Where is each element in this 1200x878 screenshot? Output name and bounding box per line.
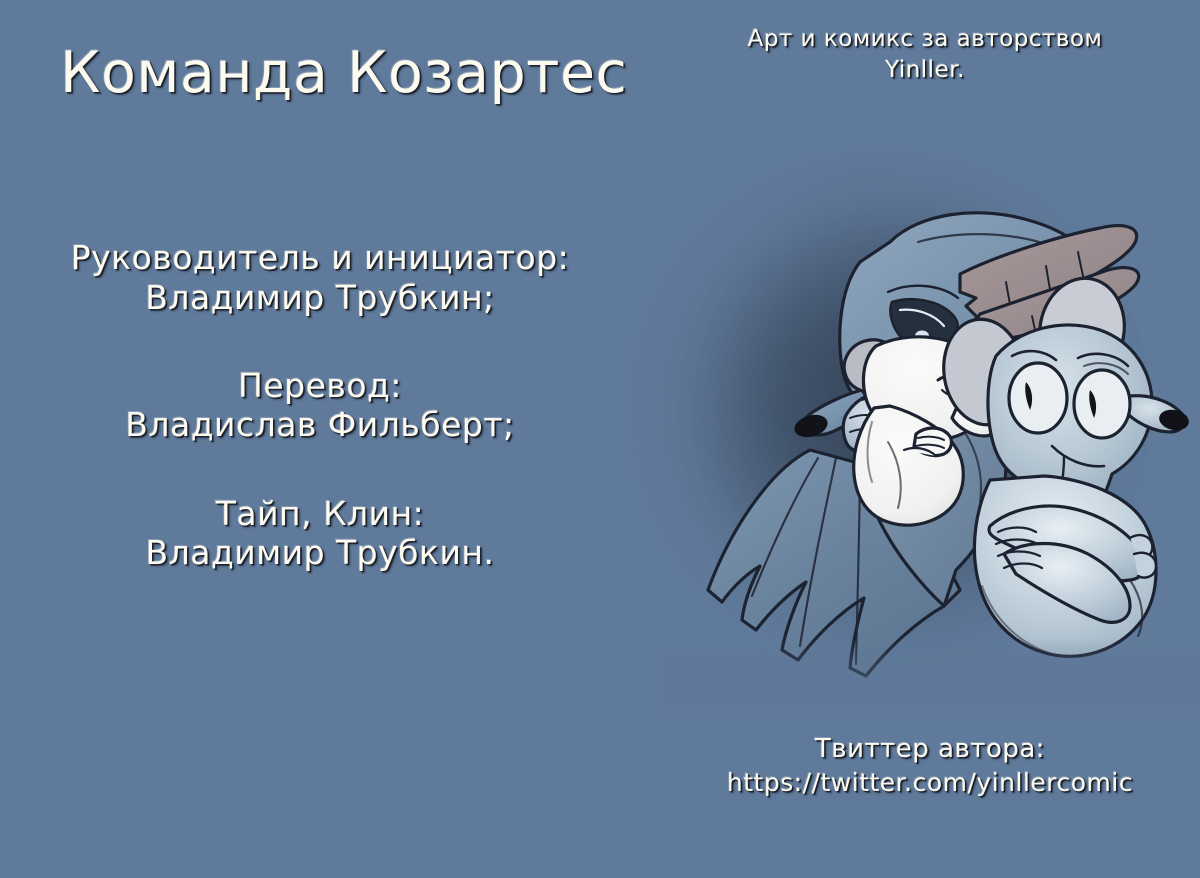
credit-role: Руководитель и инициатор: [20, 238, 620, 278]
credit-role: Тайп, Клин: [20, 494, 620, 534]
credit-block: Руководитель и инициатор: Владимир Трубк… [20, 238, 620, 318]
twitter-url[interactable]: https://twitter.com/yinllercomic [700, 766, 1160, 799]
credit-block: Перевод: Владислав Фильберт; [20, 366, 620, 446]
twitter-credit: Твиттер автора: https://twitter.com/yinl… [700, 732, 1160, 799]
author-credit-line1: Арт и комикс за авторством [748, 26, 1103, 52]
credit-block: Тайп, Клин: Владимир Трубкин. [20, 494, 620, 574]
credit-name: Владимир Трубкин. [20, 533, 620, 573]
credit-role: Перевод: [20, 366, 620, 406]
illustration-bat-and-mice [660, 150, 1200, 730]
page-title: Команда Козартес [60, 44, 627, 104]
credits-page: Команда Козартес Арт и комикс за авторст… [0, 0, 1200, 878]
credits-list: Руководитель и инициатор: Владимир Трубк… [20, 238, 620, 574]
credit-name: Владислав Фильберт; [20, 405, 620, 445]
author-credit: Арт и комикс за авторством Yinller. [690, 24, 1160, 86]
credit-name: Владимир Трубкин; [20, 278, 620, 318]
author-credit-line2: Yinller. [690, 55, 1160, 86]
twitter-label: Твиттер автора: [815, 734, 1045, 764]
